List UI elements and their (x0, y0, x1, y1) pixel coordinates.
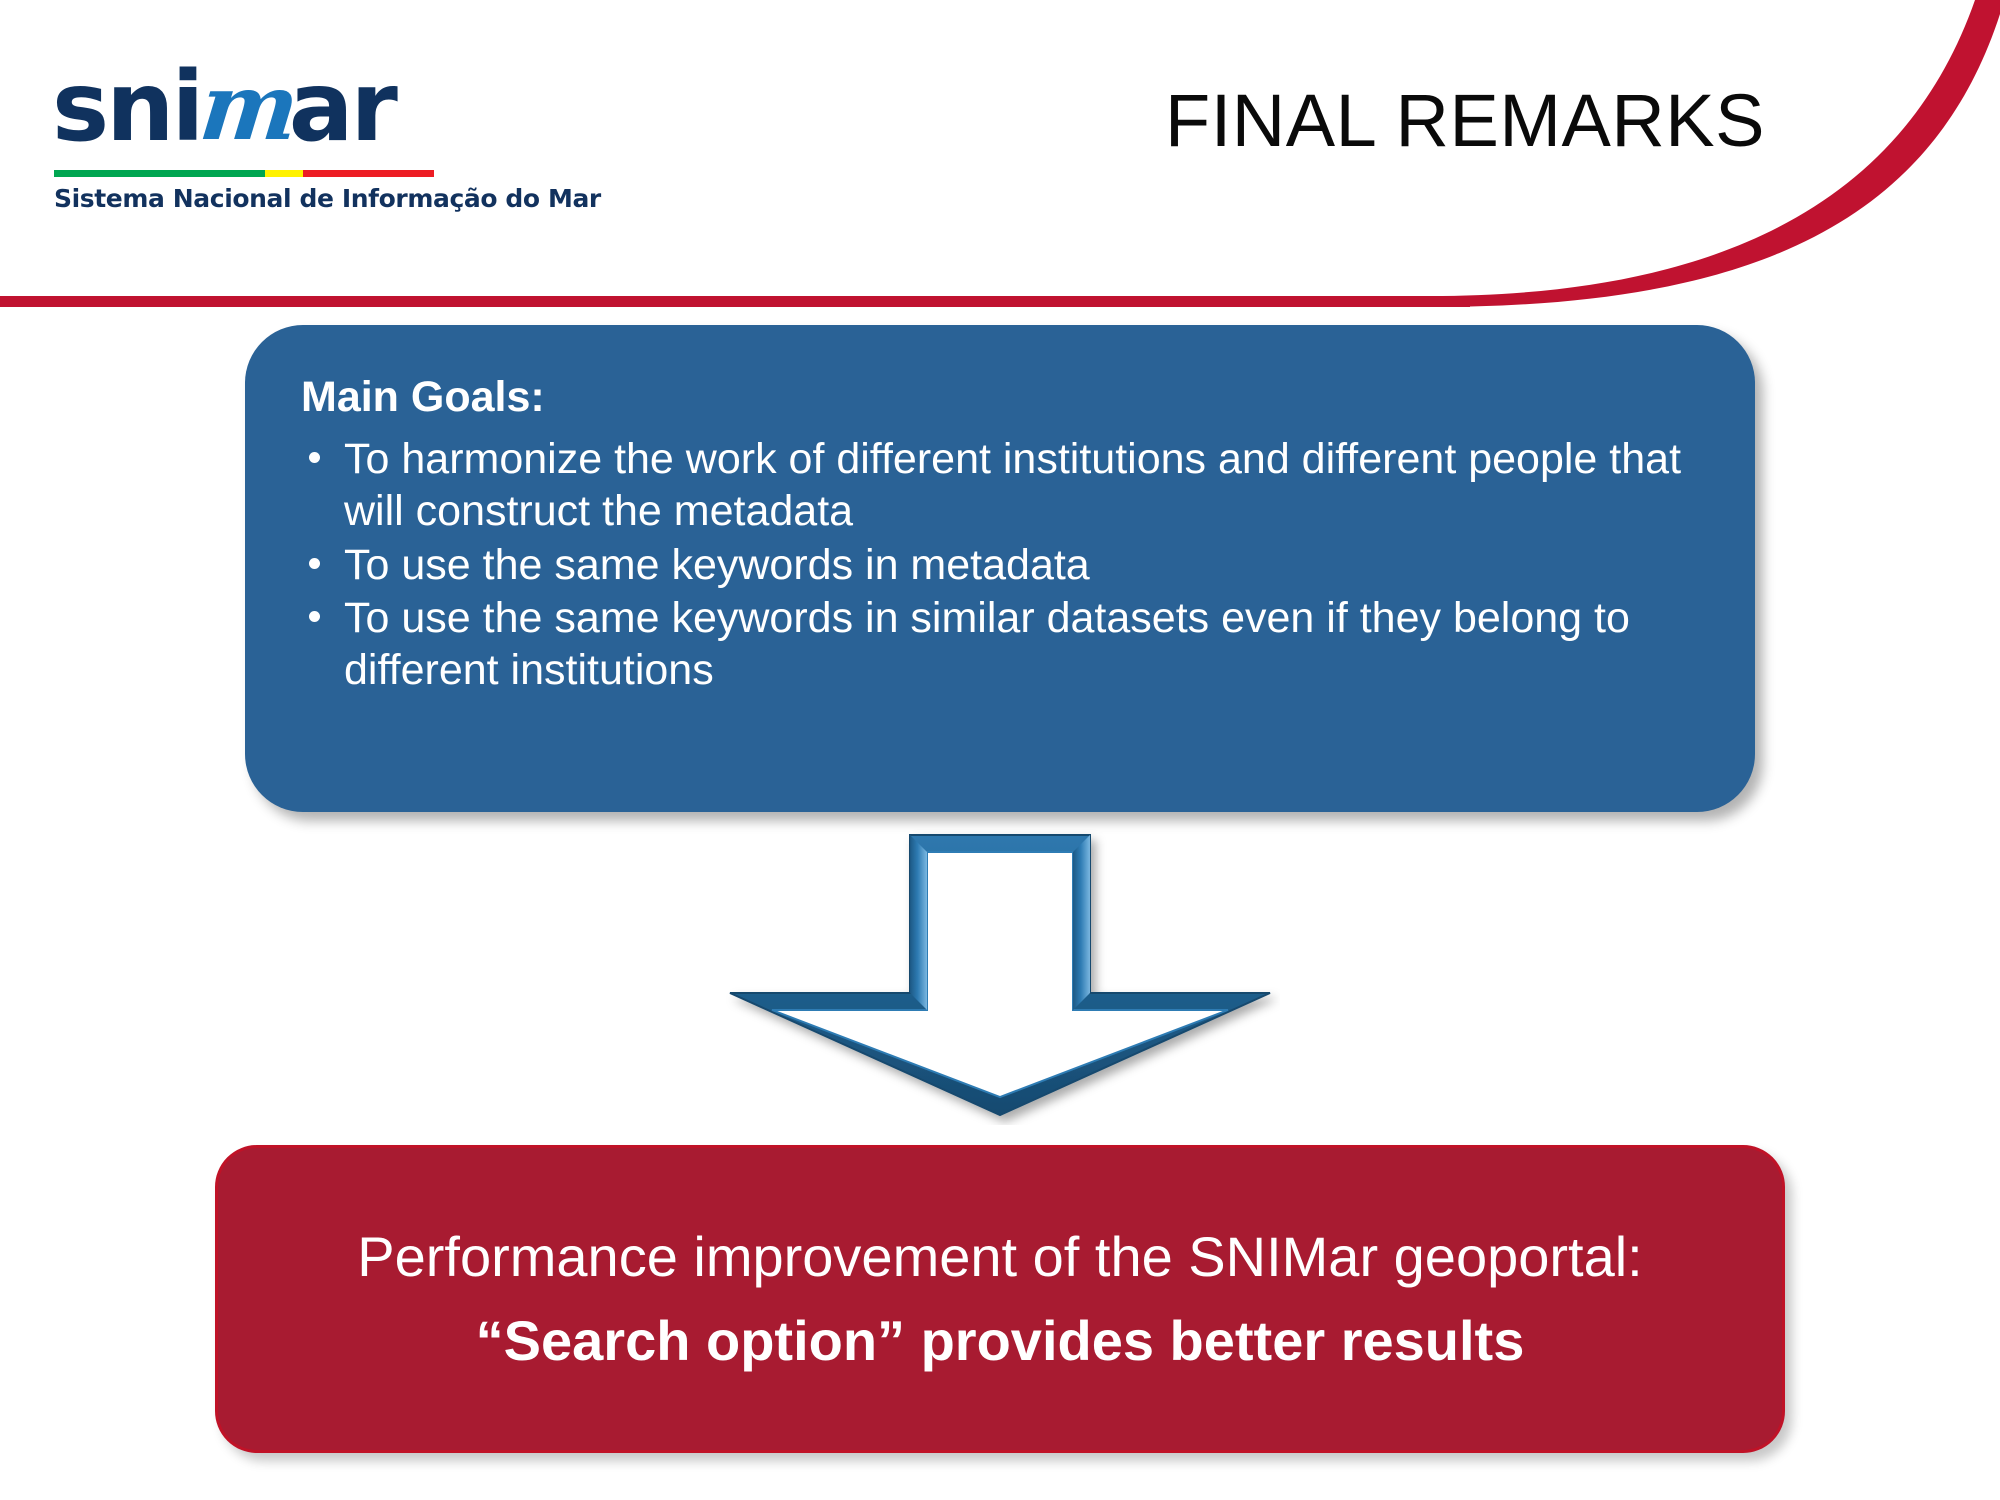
list-item: To use the same keywords in metadata (301, 540, 1715, 592)
logo-text-sni: sni (52, 51, 201, 163)
result-emphasis-text: “Search option” provides better results (476, 1308, 1525, 1374)
logo-rule-green-segment (54, 170, 265, 177)
list-item-label: To harmonize the work of different insti… (344, 435, 1681, 535)
logo-wordmark: snimar (52, 52, 395, 162)
logo-rule-yellow-segment (265, 170, 303, 177)
logo-tricolor-rule (54, 170, 434, 177)
bullet-dot-icon (309, 452, 320, 463)
main-goals-heading: Main Goals: (301, 373, 1715, 422)
list-item-label: To use the same keywords in metadata (344, 541, 1090, 589)
logo-rule-red-segment (303, 170, 434, 177)
list-item-label: To use the same keywords in similar data… (344, 594, 1630, 694)
logo-text-ar: ar (289, 51, 395, 163)
page-title: FINAL REMARKS (1165, 78, 1765, 163)
main-goals-content: Main Goals: To harmonize the work of dif… (301, 373, 1715, 698)
slide-canvas: snimar Sistema Nacional de Informação do… (0, 0, 2000, 1500)
list-item: To use the same keywords in similar data… (301, 593, 1715, 696)
bullet-dot-icon (309, 611, 320, 622)
down-arrow-icon (720, 825, 1280, 1125)
snimar-logo: snimar Sistema Nacional de Informação do… (52, 52, 552, 217)
logo-text-m-wave: m (196, 52, 295, 162)
result-panel: Performance improvement of the SNIMar ge… (215, 1145, 1785, 1453)
bullet-dot-icon (309, 558, 320, 569)
list-item: To harmonize the work of different insti… (301, 434, 1715, 537)
main-goals-panel: Main Goals: To harmonize the work of dif… (245, 325, 1755, 812)
result-primary-text: Performance improvement of the SNIMar ge… (357, 1224, 1642, 1290)
logo-tagline: Sistema Nacional de Informação do Mar (54, 184, 601, 213)
main-goals-list: To harmonize the work of different insti… (301, 434, 1715, 696)
